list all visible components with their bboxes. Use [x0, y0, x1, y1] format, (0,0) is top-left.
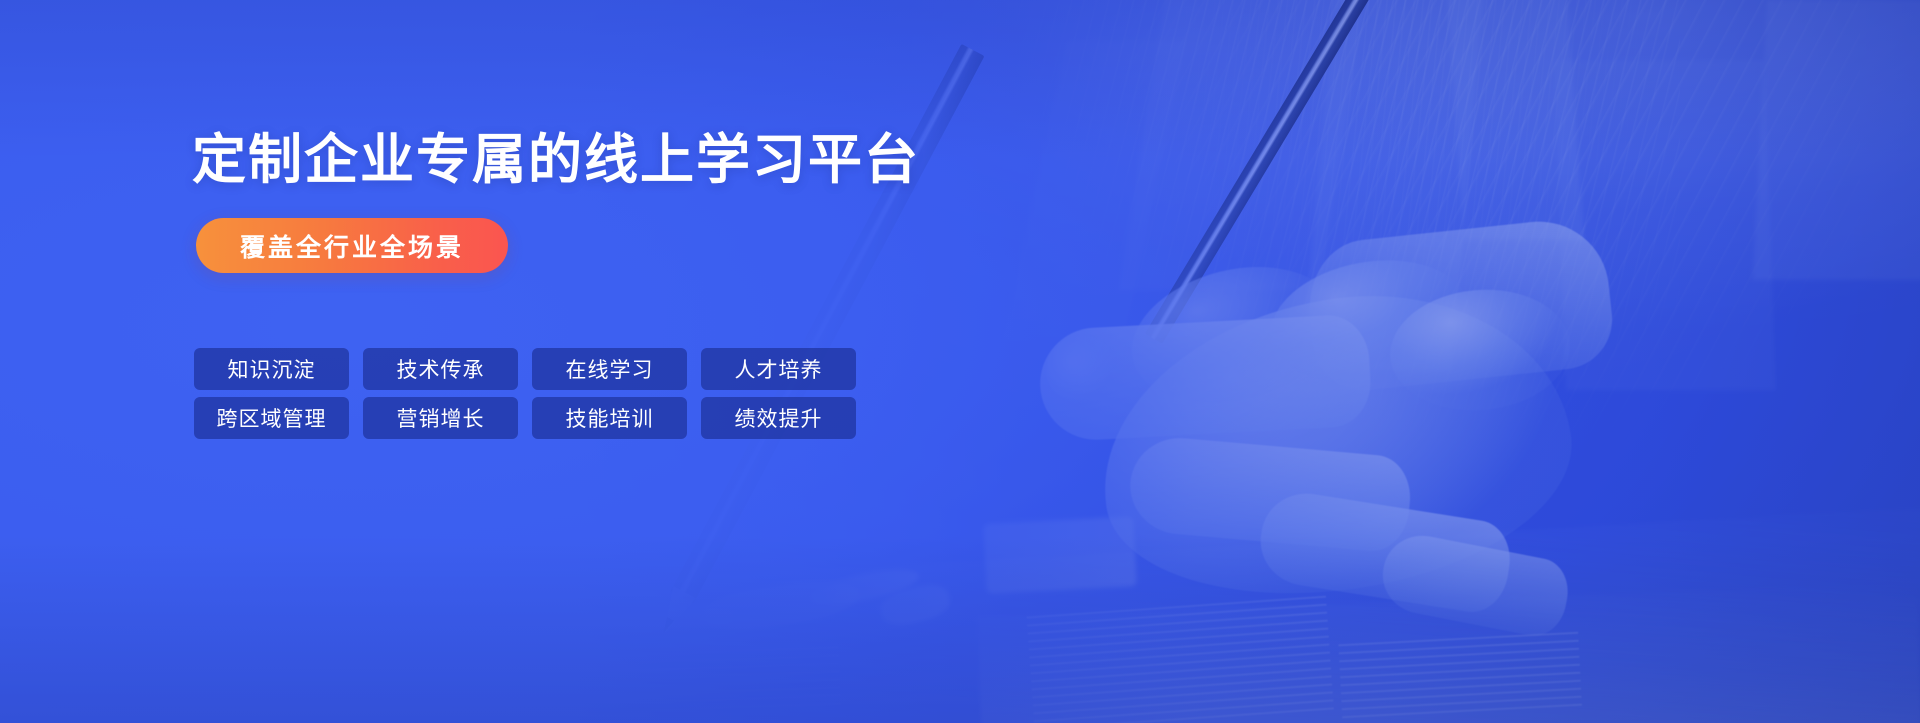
- building-mass-icon: [1446, 0, 1584, 240]
- hand-knuckle: [1385, 282, 1575, 417]
- hand-finger-middle: [1126, 434, 1413, 554]
- tag-item[interactable]: 人才培养: [701, 348, 856, 390]
- building-facade-lines: [1100, 0, 1860, 660]
- building-facade-lines: [1160, 0, 1680, 580]
- pencil-icon: [1145, 0, 1384, 344]
- tag-item[interactable]: 技能培训: [532, 397, 687, 439]
- hand-illustration: [1010, 210, 1630, 640]
- hand-thumb: [1303, 215, 1617, 396]
- page-title: 定制企业专属的线上学习平台: [192, 130, 920, 190]
- tag-item[interactable]: 技术传承: [363, 348, 518, 390]
- hand-knuckle: [1261, 246, 1479, 399]
- hand-finger-pinky: [1376, 529, 1573, 641]
- building-mass-icon: [1554, 60, 1776, 390]
- tag-item[interactable]: 在线学习: [532, 348, 687, 390]
- building-mass-icon: [1753, 0, 1920, 280]
- tag-list: 知识沉淀 技术传承 在线学习 人才培养 跨区域管理 营销增长 技能培训 绩效提升: [194, 348, 894, 439]
- hand-knuckle: [1117, 247, 1352, 424]
- hand-finger-ring: [1254, 487, 1515, 617]
- hero-banner: 定制企业专属的线上学习平台 覆盖全行业全场景 知识沉淀 技术传承 在线学习 人才…: [0, 0, 1920, 723]
- tag-item[interactable]: 营销增长: [363, 397, 518, 439]
- hero-content: 定制企业专属的线上学习平台 覆盖全行业全场景 知识沉淀 技术传承 在线学习 人才…: [192, 0, 1092, 723]
- tag-item[interactable]: 跨区域管理: [194, 397, 349, 439]
- hand-palm: [1082, 269, 1588, 622]
- building-mass-icon: [1119, 0, 1371, 290]
- tag-item[interactable]: 绩效提升: [701, 397, 856, 439]
- paper-ruled-lines: [1338, 626, 1582, 718]
- coverage-badge[interactable]: 覆盖全行业全场景: [196, 218, 508, 273]
- desk-surface: [977, 584, 1920, 723]
- building-mass-icon: [1301, 0, 1489, 370]
- tag-item[interactable]: 知识沉淀: [194, 348, 349, 390]
